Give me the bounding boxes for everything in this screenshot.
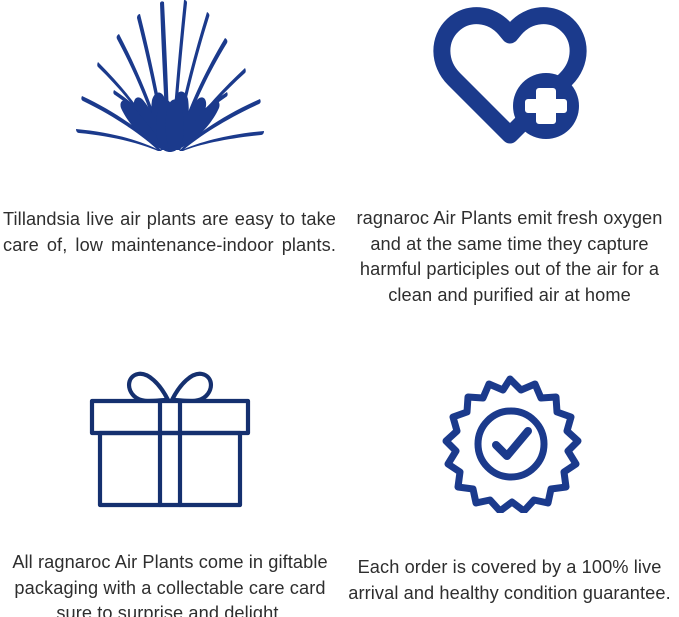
feature-cell-oxygen: ragnaroc Air Plants emit fresh oxygen an… — [340, 0, 679, 308]
guarantee-badge-icon — [436, 373, 584, 513]
feature-caption: Tillandsia live air plants are easy to t… — [0, 207, 340, 258]
icon-well — [0, 308, 340, 508]
icon-well — [0, 0, 340, 152]
gift-box-icon — [82, 360, 258, 508]
heart-plus-icon — [430, 3, 590, 151]
gift-lid — [92, 401, 248, 433]
bow-right-loop — [172, 374, 211, 401]
bow-left-loop — [129, 374, 168, 401]
feature-cell-guarantee: Each order is covered by a 100% live arr… — [340, 308, 679, 617]
check-icon — [496, 431, 528, 456]
air-plant-icon — [70, 0, 270, 152]
gift-body — [100, 433, 240, 505]
feature-cell-air-plant: Tillandsia live air plants are easy to t… — [0, 0, 340, 308]
feature-caption: Each order is covered by a 100% live arr… — [340, 555, 679, 606]
feature-cell-gift: All ragnaroc Air Plants come in giftable… — [0, 308, 340, 617]
icon-well — [340, 0, 679, 151]
badge-inner-circle — [478, 411, 544, 477]
feature-caption: ragnaroc Air Plants emit fresh oxygen an… — [340, 206, 679, 308]
feature-caption: All ragnaroc Air Plants come in giftable… — [0, 550, 340, 617]
icon-well — [340, 308, 679, 513]
feature-grid: Tillandsia live air plants are easy to t… — [0, 0, 679, 617]
